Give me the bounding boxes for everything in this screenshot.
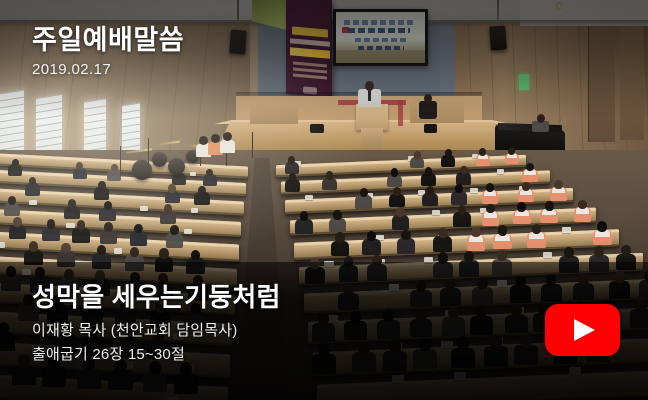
play-triangle-icon [574,319,595,341]
hymnal [114,248,123,254]
hymnal [66,223,74,228]
hymnal [191,208,199,213]
hymnal [324,261,333,267]
hymnal [470,188,478,193]
sermon-title: 성막을 세우는기둥처럼 [32,282,281,312]
preacher-figure [365,81,374,91]
hymnal [569,367,581,375]
speaker-icon [229,29,247,54]
hymnal [184,229,192,234]
hymnal [562,227,571,233]
top-overlay-block: 주일예배말씀 2019.02.17 [32,24,184,80]
video-thumbnail-card[interactable]: 주일예배말씀 2019.02.17 성막을 세우는기둥처럼 이재황 목사 (천안… [0,0,648,400]
video-date: 2019.02.17 [32,60,184,80]
hymnal [190,172,196,176]
bottom-overlay-block: 성막을 세우는기둥처럼 이재황 목사 (천안교회 담임목사) 출애굽기 26장 … [32,282,281,366]
hymnal [497,280,507,287]
speaker-icon [489,25,507,50]
video-title: 주일예배말씀 [32,24,184,56]
hymnal [0,242,5,248]
sermon-speaker: 이재황 목사 (천안교회 담임목사) [32,320,281,342]
hymnal [389,284,399,291]
hymnal [454,372,466,380]
hymnal [543,252,552,258]
hymnal [392,375,404,383]
hymnal [441,341,452,349]
hymnal [22,269,31,275]
pulpit [356,104,388,130]
hymnal [432,210,440,215]
hymnal [305,195,313,200]
hymnal [424,257,433,263]
hymnal [140,206,148,211]
sermon-scripture: 출애굽기 26장 15~30절 [32,344,281,366]
hymnal [29,200,37,205]
exit-sign-icon [519,74,529,90]
youtube-play-button[interactable] [545,304,620,356]
hymnal [497,169,504,174]
